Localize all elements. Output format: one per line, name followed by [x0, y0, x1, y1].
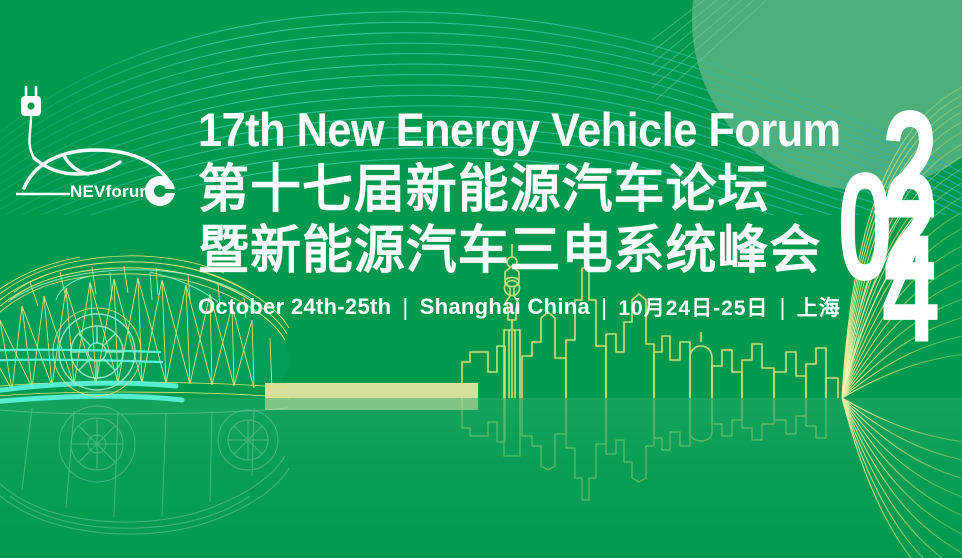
poster-canvas: NEVforum 17th New Energy Vehicle Forum 第… — [0, 0, 962, 558]
headline-block: 17th New Energy Vehicle Forum 第十七届新能源汽车论… — [198, 104, 848, 322]
meta-location-cn: 上海 — [797, 292, 841, 322]
water-reflection-band — [0, 398, 962, 558]
year-digit-four: 4 — [882, 228, 938, 350]
chinese-title-line2: 暨新能源汽车三电系统峰会 — [198, 221, 835, 282]
logo-brand-bold: NEV — [70, 182, 106, 201]
meta-date-cn: 10月24日-25日 — [618, 292, 768, 322]
meta-location-en: Shanghai China — [420, 294, 590, 320]
logo-wordmark: NEVforum — [70, 182, 155, 202]
chinese-title-line1: 第十七届新能源汽车论坛 — [198, 160, 835, 221]
meta-separator-3: | — [779, 294, 785, 321]
meta-date-en: October 24th-25th — [198, 294, 391, 320]
charging-plug-icon — [21, 87, 41, 158]
meta-separator-1: | — [402, 294, 408, 321]
event-meta-line: October 24th-25th | Shanghai China | 10月… — [198, 292, 848, 322]
year-2024: 2 0 2 4 — [846, 104, 958, 316]
english-title: 17th New Energy Vehicle Forum — [198, 104, 796, 156]
ground-bar — [265, 383, 478, 398]
logo-brand-light: forum — [106, 182, 155, 201]
meta-separator-2: | — [601, 294, 607, 321]
